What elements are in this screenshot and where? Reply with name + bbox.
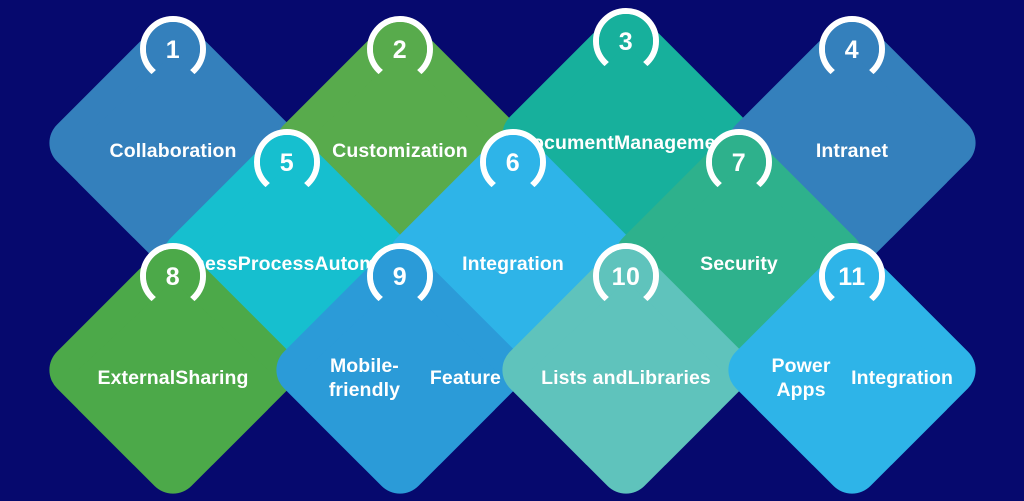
number-badge-text-holder: 4 xyxy=(819,16,885,82)
node-number: 2 xyxy=(393,38,407,63)
number-badge-text-holder: 8 xyxy=(140,243,206,309)
number-badge-text-holder: 3 xyxy=(593,8,659,74)
number-badge-text-holder: 5 xyxy=(254,129,320,195)
node-number: 10 xyxy=(612,265,641,290)
number-badge-text-holder: 10 xyxy=(593,243,659,309)
node-number: 4 xyxy=(845,38,859,63)
diamond-node-10[interactable]: 10Lists andLibraries xyxy=(531,275,721,465)
infographic-canvas: 1Collaboration2Customization3DocumentMan… xyxy=(0,0,1024,501)
diamond-node-8[interactable]: 8ExternalSharing xyxy=(78,275,268,465)
node-number: 8 xyxy=(166,265,180,290)
number-badge-text-holder: 6 xyxy=(480,129,546,195)
node-number: 1 xyxy=(166,38,180,63)
node-number: 6 xyxy=(506,151,520,176)
number-badge-text-holder: 2 xyxy=(367,16,433,82)
number-badge-text-holder: 1 xyxy=(140,16,206,82)
diamond-node-9[interactable]: 9Mobile-friendlyFeature xyxy=(305,275,495,465)
node-number: 9 xyxy=(393,265,407,290)
node-number: 11 xyxy=(838,265,865,290)
number-badge-text-holder: 11 xyxy=(819,243,885,309)
node-number: 5 xyxy=(280,151,294,176)
node-number: 7 xyxy=(732,151,746,176)
node-number: 3 xyxy=(619,30,633,55)
diamond-node-11[interactable]: 11Power AppsIntegration xyxy=(757,275,947,465)
number-badge-text-holder: 7 xyxy=(706,129,772,195)
number-badge-text-holder: 9 xyxy=(367,243,433,309)
